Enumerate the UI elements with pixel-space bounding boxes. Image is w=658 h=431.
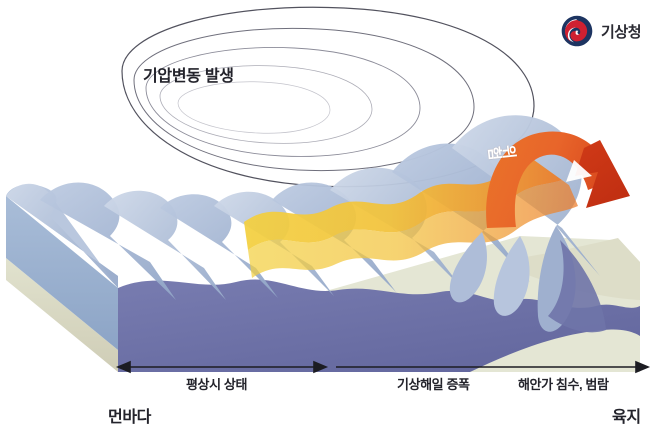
segment-arrows-group <box>0 0 658 431</box>
pressure-variation-label: 기압변동 발생 <box>143 62 234 86</box>
meteotsunami-diagram: 기상청 기압변동 발생 위험 평상시 상태 기상해일 증폭 해안가 침수, 범람… <box>0 0 658 431</box>
taegeuk-swirl-icon <box>560 14 594 48</box>
edge-label-open-sea: 먼바다 <box>108 403 151 427</box>
segment-label-normal: 평상시 상태 <box>186 374 247 393</box>
normal-segment-arrow-head-left <box>118 362 130 372</box>
edge-label-land: 육지 <box>612 403 641 427</box>
flood-segment-arrow-head-right <box>636 362 648 372</box>
normal-segment-arrow-head-right <box>314 362 326 372</box>
segment-label-flood: 해안가 침수, 범람 <box>518 374 609 393</box>
kma-logo: 기상청 <box>560 14 641 48</box>
segment-label-amplify: 기상해일 증폭 <box>397 374 470 393</box>
logo-label: 기상청 <box>601 21 641 42</box>
danger-label: 위험 <box>487 140 518 164</box>
